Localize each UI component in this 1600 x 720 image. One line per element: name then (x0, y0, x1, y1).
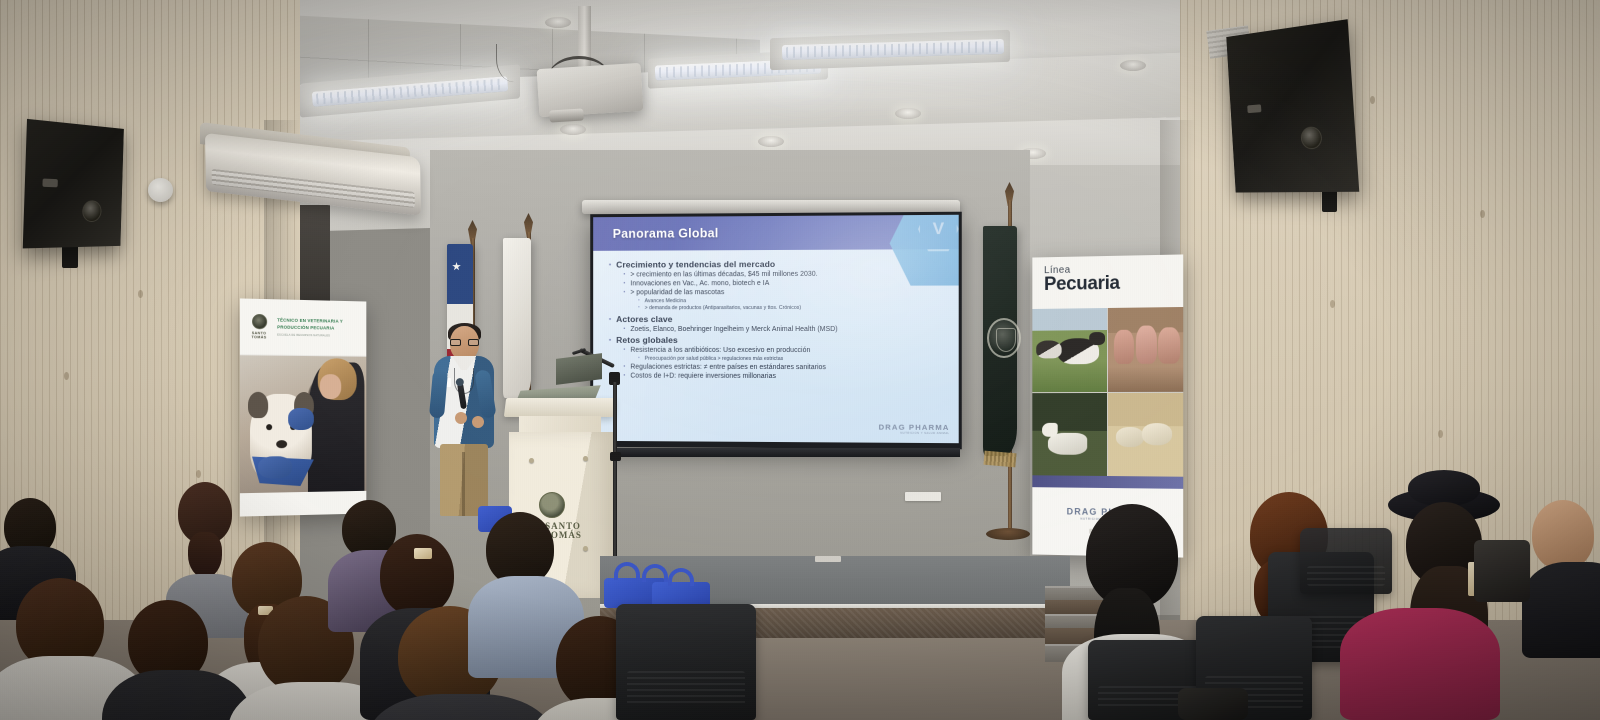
backpack (1178, 688, 1248, 720)
speaker-badge (42, 179, 57, 188)
camera-bag (1474, 540, 1530, 602)
conference-room-photo: Panorama Global V Crecimiento y tendenci… (0, 0, 1600, 720)
glasses-lens-left (450, 339, 461, 346)
audience-chair (1300, 528, 1392, 594)
bullet-l3: Avances Medicina (638, 298, 948, 305)
speaker-tweeter (1300, 126, 1322, 149)
bullet-l2: Resistencia a los antibióticos: Uso exce… (624, 347, 949, 354)
bullet-l2: Zoetis, Elanco, Boehringer Ingelheim y M… (624, 326, 949, 333)
goat-head (1042, 422, 1058, 436)
left-wall-speaker (23, 119, 124, 249)
smoke-detector (148, 178, 173, 202)
audience-shoulders (1522, 562, 1600, 658)
bullet-l2: Costos de I+D: requiere inversiones mill… (624, 373, 949, 381)
photo-ovejas (1107, 392, 1183, 476)
projector-lens (549, 108, 584, 122)
sheep-1 (1115, 427, 1143, 447)
sheep-2 (1141, 423, 1171, 445)
presenter-hand-right (472, 416, 484, 428)
downlight-7 (545, 17, 571, 28)
podium-top (504, 398, 616, 417)
photo-cabra (1032, 393, 1106, 476)
flag-base (986, 528, 1030, 540)
downlight-1 (560, 124, 586, 135)
bullet-l2: > crecimiento en las últimas décadas, $4… (624, 271, 949, 279)
bullet-l3: Preocupación por salud pública > regulac… (638, 356, 948, 363)
flag-crest-icon (987, 318, 1021, 358)
podium-stud (583, 456, 588, 461)
audience-head (1532, 500, 1594, 570)
projection-screen: Panorama Global V Crecimiento y tendenci… (590, 212, 962, 450)
audience-head (380, 534, 454, 616)
blue-bags-group (600, 560, 716, 604)
downlight-2 (758, 136, 784, 147)
veterinarian-face (320, 374, 341, 399)
slide-footer-logo-text: DRAG PHARMA (879, 423, 950, 432)
presentation-slide: Panorama Global V Crecimiento y tendenci… (593, 215, 959, 443)
ceiling-projector (537, 63, 644, 117)
audience-chair (616, 604, 756, 720)
dog-eye-left (266, 424, 272, 430)
slide-title: Panorama Global (613, 226, 719, 241)
glasses-icon (450, 339, 479, 346)
audience-head (486, 512, 554, 586)
downlight-3 (895, 108, 921, 119)
glasses-lens-right (468, 339, 479, 346)
bullet-l1: Crecimiento y tendencias del mercado (609, 259, 949, 270)
photo-cerdos (1107, 307, 1183, 392)
banner-right-headline: Pecuaria (1044, 274, 1183, 294)
podium-stud (529, 458, 534, 463)
banner-left-header: SANTO TOMÁS TÉCNICO EN VETERINARIA Y PRO… (240, 298, 366, 356)
santo-tomas-logo-icon: SANTO TOMÁS (246, 309, 272, 344)
banner-right-photo-grid (1032, 307, 1183, 477)
banner-left-title: TÉCNICO EN VETERINARIA Y PRODUCCIÓN PECU… (277, 318, 360, 333)
hair-clip (414, 548, 432, 559)
wood-knot (1330, 300, 1335, 308)
cow-head (1089, 332, 1105, 345)
speaker-tweeter (82, 200, 102, 222)
podium-stud (583, 546, 588, 551)
right-wall-speaker (1226, 19, 1359, 192)
bullet-l1: Actores clave (609, 314, 949, 324)
bullet-l2: > popularidad de las mascotas (624, 289, 949, 297)
banner-left-photo (240, 355, 366, 493)
wood-knot (1370, 96, 1375, 104)
bullet-l3: > demanda de productos (Antiparasitarios… (638, 305, 948, 311)
wood-knot (64, 372, 69, 380)
slide-footer-logo: DRAG PHARMA NUTRICION Y SALUD ANIMAL (879, 423, 950, 436)
bullet-l2: Regulaciones estrictas: ≠ entre países e… (624, 364, 949, 372)
santo-tomas-seal-icon (539, 492, 565, 518)
santo-tomas-seal-icon (252, 313, 267, 328)
bag-handle-1 (614, 562, 640, 580)
flag-fringe (983, 451, 1016, 468)
downlight-5 (1120, 60, 1146, 71)
photo-vacas (1032, 308, 1106, 392)
bullet-l2: Innovaciones en Vac., Ac. mono, biotech … (624, 280, 949, 288)
presenter-hand-left (455, 412, 467, 424)
santo-tomas-name: SANTO TOMÁS (246, 331, 272, 340)
pig-2 (1135, 325, 1156, 363)
cow-body-2 (1036, 340, 1061, 358)
audience-ponytail (188, 532, 222, 578)
flag-institutional-white (503, 238, 531, 398)
slide-header: Panorama Global V (593, 215, 959, 251)
audience-shoulders-magenta (1340, 608, 1500, 720)
screen-control-box (905, 492, 941, 501)
pig-3 (1157, 327, 1179, 363)
hexagon-inner-icon: V (918, 215, 959, 252)
hat-icon (1408, 470, 1480, 506)
blue-glove-2 (258, 456, 292, 479)
speaker-badge (1247, 104, 1261, 113)
wood-knot (1438, 430, 1443, 438)
wood-knot (196, 470, 201, 478)
screen-bottom-bar (588, 448, 960, 457)
banner-right-header: Línea Pecuaria (1032, 254, 1183, 309)
bag-handle-3 (668, 568, 694, 586)
banner-left-subtitle: ESCUELA DE RECURSOS NATURALES (277, 333, 360, 337)
wood-knot (138, 290, 143, 298)
presenter (428, 326, 498, 516)
wood-knot (1480, 210, 1485, 218)
bullet-l1: Retos globales (609, 335, 949, 345)
bag-handle-2 (642, 564, 668, 582)
dog-ear-left (248, 392, 268, 418)
mic-stand-collar (610, 452, 621, 461)
dog-nose (276, 440, 287, 448)
blue-glove-1 (288, 408, 314, 430)
pig-1 (1113, 330, 1133, 364)
floor-vent (815, 556, 841, 562)
banner-tecnico-veterinaria: SANTO TOMÁS TÉCNICO EN VETERINARIA Y PRO… (240, 298, 366, 516)
slide-footer-logo-sub: NUTRICION Y SALUD ANIMAL (879, 432, 950, 435)
